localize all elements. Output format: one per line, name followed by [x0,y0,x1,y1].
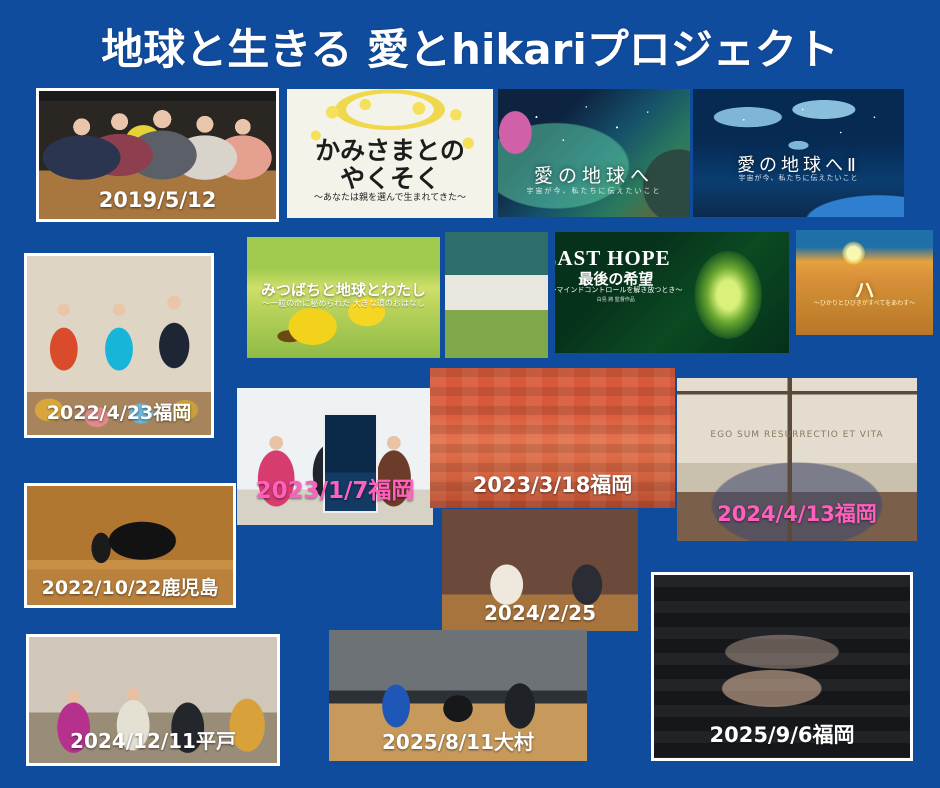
poster-artwork [555,232,789,353]
page-title: 地球と生きる 愛とhikariプロジェクト [0,16,940,77]
poster-artwork [247,237,440,358]
poster-documentary-green[interactable] [445,232,548,358]
poster-artwork [498,89,690,217]
poster-desert-torii[interactable]: ハ 〜ひかりとひびきがすべてをあわす〜 [796,230,933,335]
poster-mitsubachi-to-chikyu-to-watashi[interactable]: みつばちと地球とわたし 〜一粒の命に秘められた 大きな環のおはなし [247,237,440,358]
poster-kamisama-tono-yakusoku[interactable]: かみさまとの やくそく 〜あなたは親を選んで生まれてきた〜 [287,89,493,218]
two-speakers-photo [329,630,587,761]
collage-canvas: 地球と生きる 愛とhikariプロジェクト 2019/5/12 かみさまとの や… [0,0,940,788]
photo-2022-04-23-fukuoka[interactable]: 2022/4/23福岡 [24,253,214,438]
photo-2025-08-11-omura[interactable]: 2025/8/11大村 [329,630,587,761]
photo-2024-12-11-hirado[interactable]: 2024/12/11平戸 [26,634,280,766]
photo-2023-01-07-fukuoka[interactable]: 2023/1/7福岡 [237,388,433,525]
photo-2024-02-25[interactable]: 2024/2/25 [442,509,638,631]
held-poster [323,413,378,513]
group-theater-photo [430,368,675,508]
poster-ai-no-hoshi-e-2[interactable]: 愛の地球へⅡ 宇宙が今、私たちに伝えたいこと [693,89,904,217]
poster-artwork [445,232,548,358]
photo-2022-10-22-kagoshima[interactable]: 2022/10/22鹿児島 [24,483,236,608]
poster-ai-no-hoshi-e[interactable]: 愛の地球へ 宇宙が今、私たちに伝えたいこと [498,89,690,217]
photo-2019-05-12[interactable]: 2019/5/12 [36,88,279,222]
photo-2024-04-13-fukuoka[interactable]: EGO SUM RESURRECTIO ET VITA 2024/4/13福岡 [677,378,917,541]
talk-event-photo [442,509,638,631]
poster-last-hope[interactable]: LAST HOPE 最後の希望 〜マインドコントロールを解き放つとき〜 白島 將… [555,232,789,353]
photo-2023-03-18-fukuoka[interactable]: 2023/3/18福岡 [430,368,675,508]
theater-audience-photo [654,575,910,758]
star-mask-group-photo [29,637,277,763]
crystal-bowls-photo [27,256,211,435]
poster-artwork [796,230,933,335]
grand-piano-photo [27,486,233,605]
poster-artwork [287,89,493,218]
poster-artwork [693,89,904,217]
photo-2025-09-06-fukuoka[interactable]: 2025/9/6福岡 [651,572,913,761]
church-group-photo [677,378,917,541]
stage-group-photo [39,91,276,219]
